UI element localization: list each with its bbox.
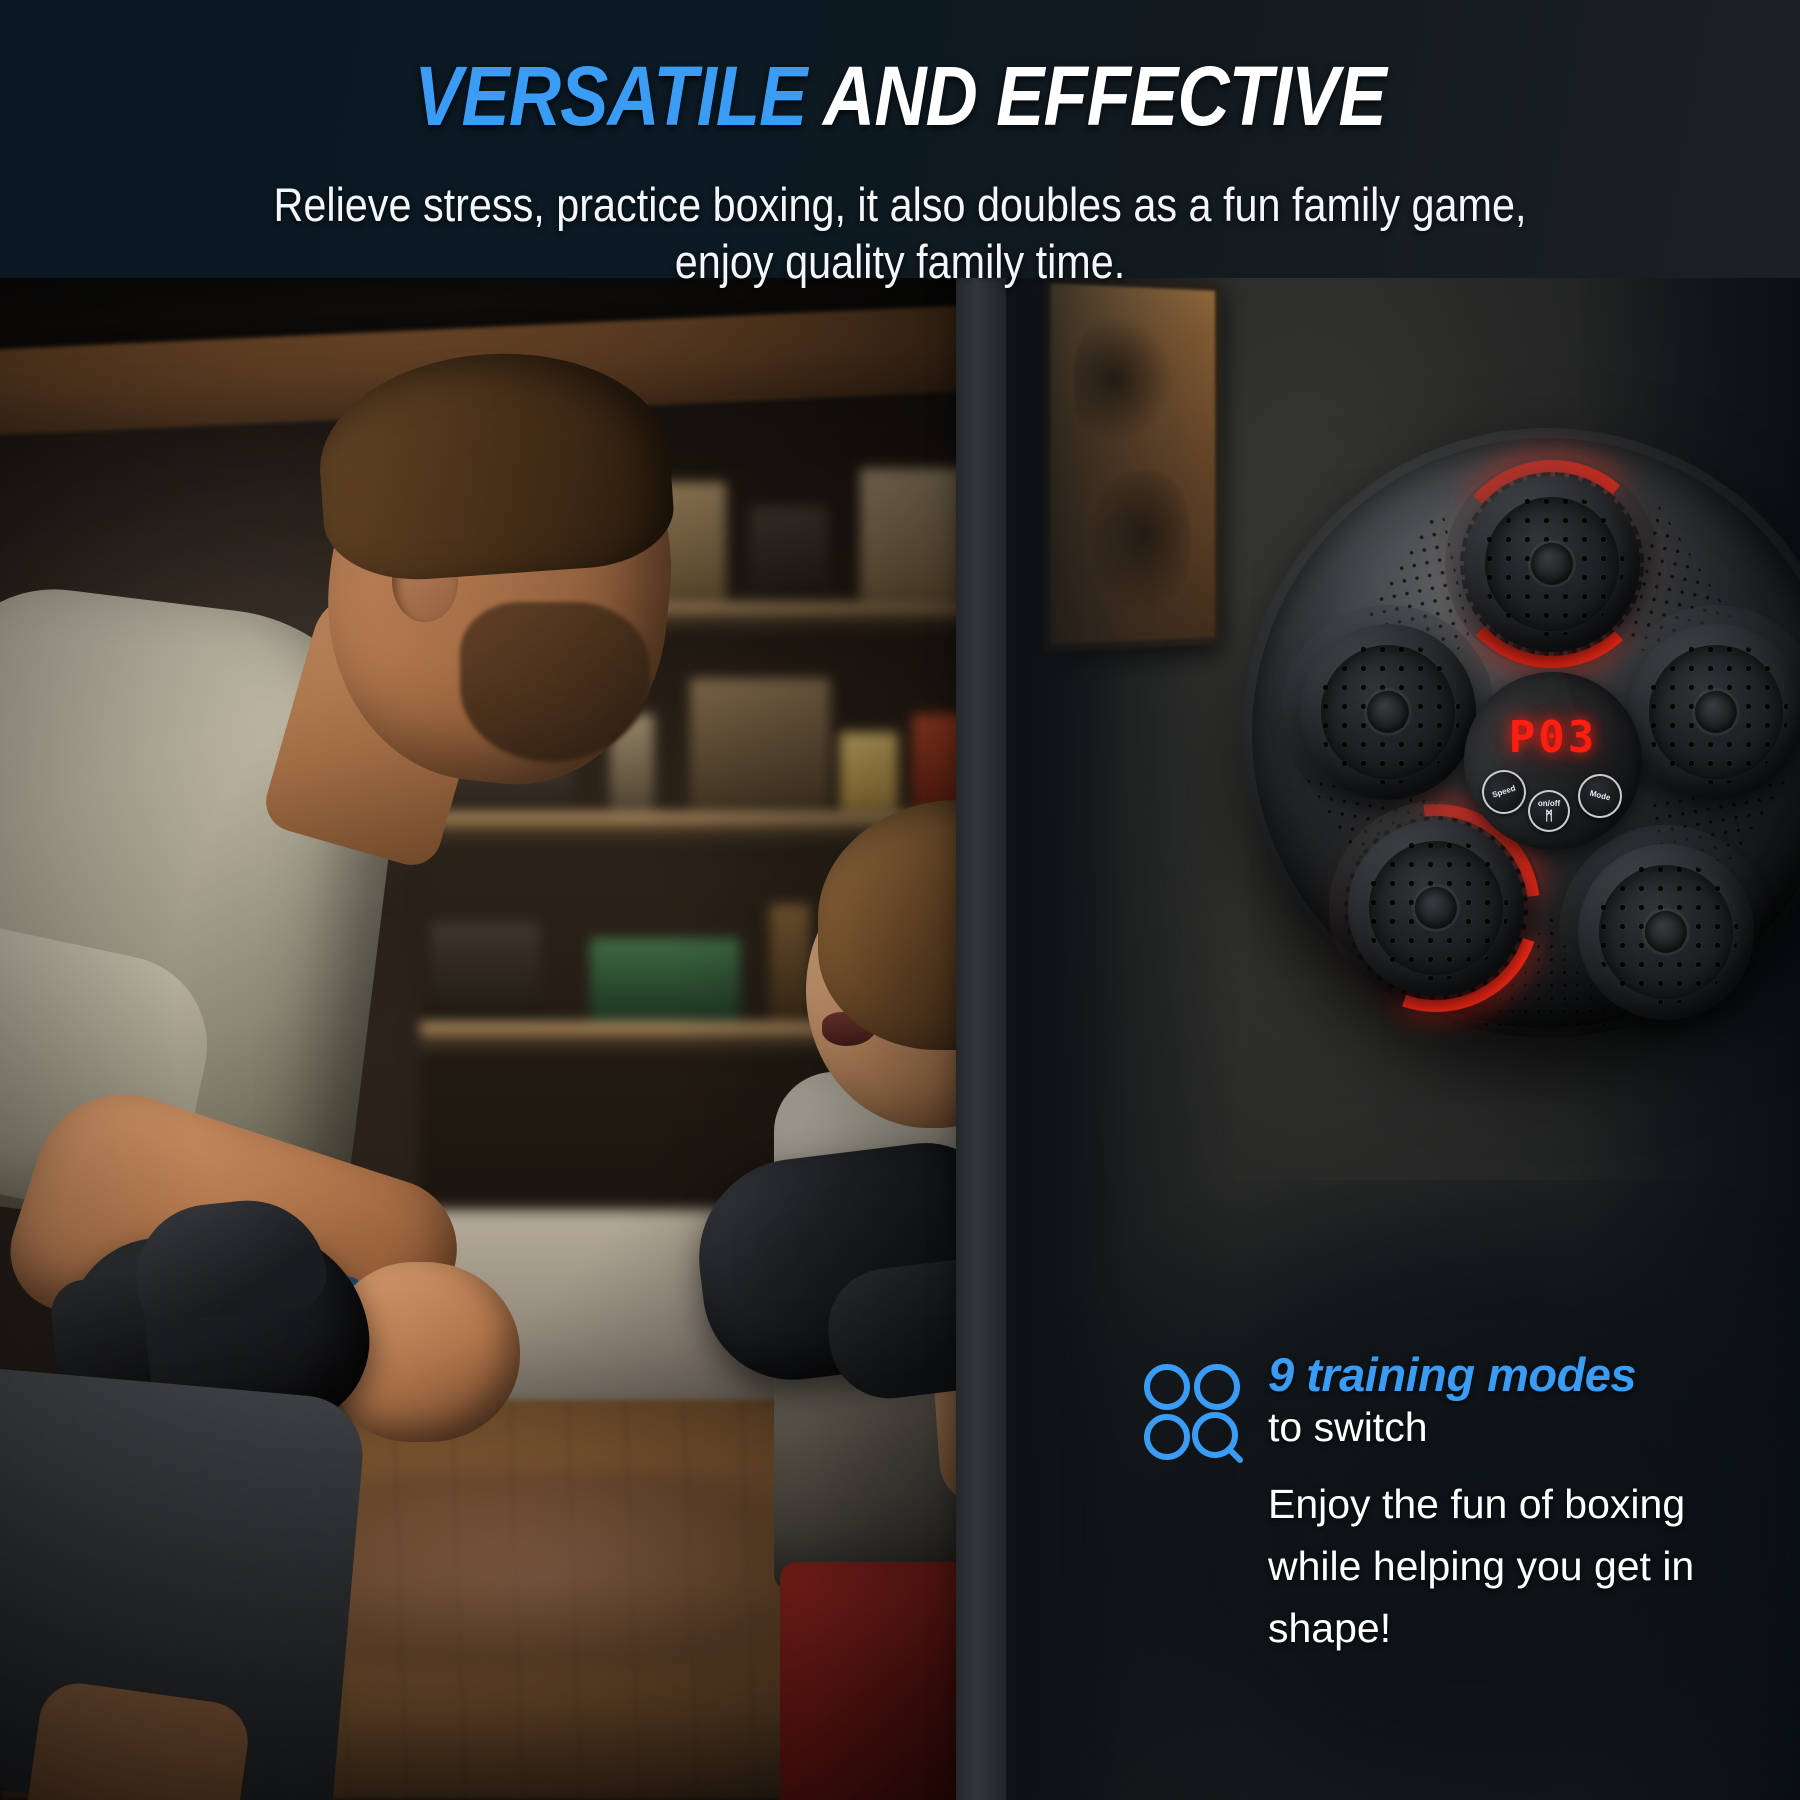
shelf-object: [690, 678, 830, 810]
target-pad-top[interactable]: [1464, 476, 1640, 652]
shelf-object: [860, 468, 964, 600]
shelf-object: [750, 506, 828, 600]
shelf-object: [840, 732, 898, 810]
led-display: P03: [1464, 712, 1642, 763]
feature-body-line-2: while helping you get in: [1268, 1535, 1768, 1597]
target-pad-right[interactable]: [1628, 624, 1800, 800]
room-interior: [0, 262, 1012, 1800]
four-circles-magnifier-icon: [1140, 1360, 1244, 1464]
subtitle-line-2: enjoy quality family time.: [108, 233, 1692, 290]
feature-text-block: 9 training modes to switch Enjoy the fun…: [1268, 1350, 1768, 1659]
power-button[interactable]: on/off ᛗ: [1528, 790, 1570, 832]
headline-blue-part: VERSATILE: [414, 49, 806, 143]
mode-button[interactable]: Mode: [1573, 769, 1626, 822]
feature-subtitle: to switch: [1268, 1404, 1768, 1451]
target-pad-bottom-right[interactable]: [1578, 844, 1754, 1020]
feature-body: Enjoy the fun of boxing while helping yo…: [1268, 1473, 1768, 1660]
music-boxing-machine[interactable]: P03 Speed on/off ᛗ Mode: [1242, 428, 1800, 1038]
subtitle: Relieve stress, practice boxing, it also…: [108, 176, 1692, 291]
feature-body-line-1: Enjoy the fun of boxing: [1268, 1473, 1768, 1535]
subtitle-line-1: Relieve stress, practice boxing, it also…: [108, 176, 1692, 233]
bluetooth-icon: ᛗ: [1545, 809, 1553, 822]
headline-white-part: AND EFFECTIVE: [807, 49, 1386, 143]
shelf-object: [590, 938, 740, 1022]
button-row: Speed on/off ᛗ Mode: [1464, 776, 1642, 836]
page-title: VERSATILE AND EFFECTIVE: [126, 54, 1674, 138]
feature-title: 9 training modes: [1268, 1350, 1768, 1400]
header-band: VERSATILE AND EFFECTIVE Relieve stress, …: [0, 0, 1800, 278]
feature-callout: 9 training modes to switch Enjoy the fun…: [1140, 1350, 1800, 1710]
control-panel[interactable]: P03 Speed on/off ᛗ Mode: [1464, 672, 1642, 850]
power-button-label: on/off: [1538, 800, 1560, 808]
target-pad-left[interactable]: [1300, 624, 1476, 800]
man-figure: [0, 302, 600, 1800]
promo-image: P03 Speed on/off ᛗ Mode VERSATILE AND EF…: [0, 0, 1800, 1800]
feature-body-line-3: shape!: [1268, 1597, 1768, 1659]
